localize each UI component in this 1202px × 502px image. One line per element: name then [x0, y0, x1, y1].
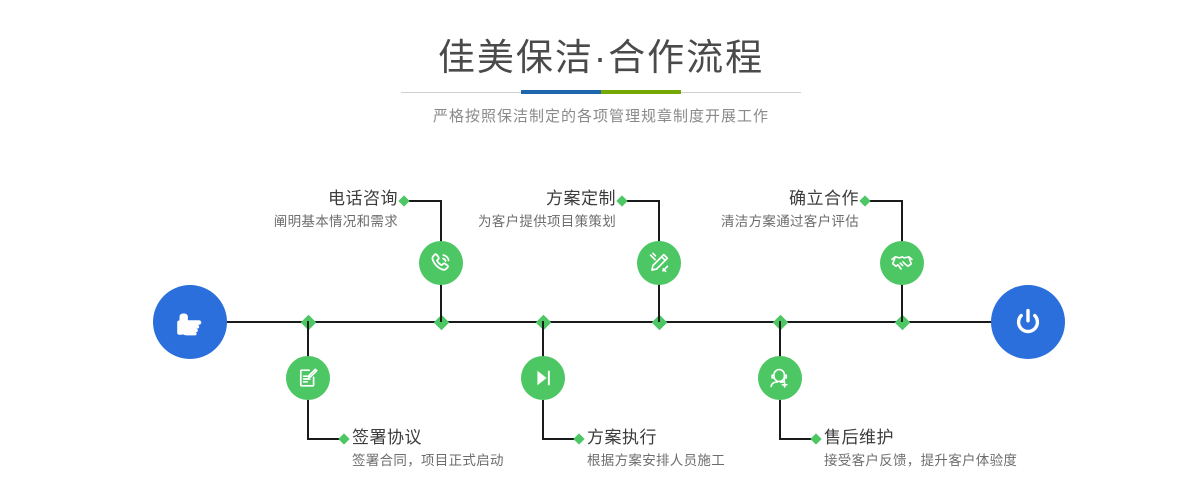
process-flow-infographic: 佳美保洁·合作流程 严格按照保洁制定的各项管理规章制度开展工作 — [0, 0, 1202, 502]
step-icon-5-handshake[interactable] — [880, 241, 924, 285]
phone-call-icon — [428, 250, 454, 276]
step-subtitle-3: 为客户提供项目策策划 — [366, 211, 616, 233]
step-icon-2-document-pen[interactable] — [286, 356, 330, 400]
stem-2 — [307, 321, 309, 357]
page-title: 佳美保洁·合作流程 — [0, 36, 1202, 80]
divider-accent-green — [601, 90, 681, 94]
start-endpoint-pointing-hand[interactable] — [153, 285, 227, 359]
leader-v-6 — [779, 400, 781, 439]
stem-5 — [901, 281, 903, 322]
end-endpoint-power[interactable] — [991, 285, 1065, 359]
step-title-3: 方案定制 — [366, 187, 616, 211]
stem-4 — [542, 321, 544, 357]
step-subtitle-6: 接受客户反馈，提升客户体验度 — [824, 450, 1104, 472]
step-title-1: 电话咨询 — [150, 187, 398, 211]
step-icon-6-support-agent-add[interactable] — [758, 356, 802, 400]
step-label-6: 售后维护 接受客户反馈，提升客户体验度 — [824, 426, 1104, 472]
divider-accent-blue — [521, 90, 601, 94]
step-subtitle-4: 根据方案安排人员施工 — [587, 450, 837, 472]
leader-v-4 — [542, 400, 544, 439]
support-agent-add-icon — [767, 365, 793, 391]
power-icon — [1008, 302, 1048, 342]
step-label-1: 电话咨询 阐明基本情况和需求 — [150, 187, 398, 233]
pencil-ruler-icon — [646, 250, 672, 276]
stem-3 — [658, 281, 660, 322]
step-subtitle-5: 清洁方案通过客户评估 — [609, 211, 859, 233]
page-subtitle: 严格按照保洁制定的各项管理规章制度开展工作 — [0, 106, 1202, 128]
step-icon-3-pencil-ruler[interactable] — [637, 241, 681, 285]
handshake-icon — [889, 250, 915, 276]
pointing-hand-icon — [170, 302, 210, 342]
step-title-6: 售后维护 — [824, 426, 1104, 450]
step-label-3: 方案定制 为客户提供项目策策划 — [366, 187, 616, 233]
leader-v-2 — [307, 400, 309, 439]
step-icon-4-play-skip[interactable] — [521, 356, 565, 400]
leader-v-5 — [901, 200, 903, 242]
step-title-5: 确立合作 — [609, 187, 859, 211]
step-label-4: 方案执行 根据方案安排人员施工 — [587, 426, 837, 472]
leader-dot-5 — [859, 195, 870, 206]
step-label-5: 确立合作 清洁方案通过客户评估 — [609, 187, 859, 233]
step-label-2: 签署协议 签署合同，项目正式启动 — [352, 426, 602, 472]
leader-h-5 — [867, 200, 902, 202]
stem-1 — [440, 281, 442, 322]
leader-dot-2 — [338, 433, 349, 444]
document-pen-icon — [295, 365, 321, 391]
step-icon-1-phone-call[interactable] — [419, 241, 463, 285]
step-subtitle-1: 阐明基本情况和需求 — [150, 211, 398, 233]
step-subtitle-2: 签署合同，项目正式启动 — [352, 450, 602, 472]
stem-6 — [779, 321, 781, 357]
play-skip-icon — [530, 365, 556, 391]
